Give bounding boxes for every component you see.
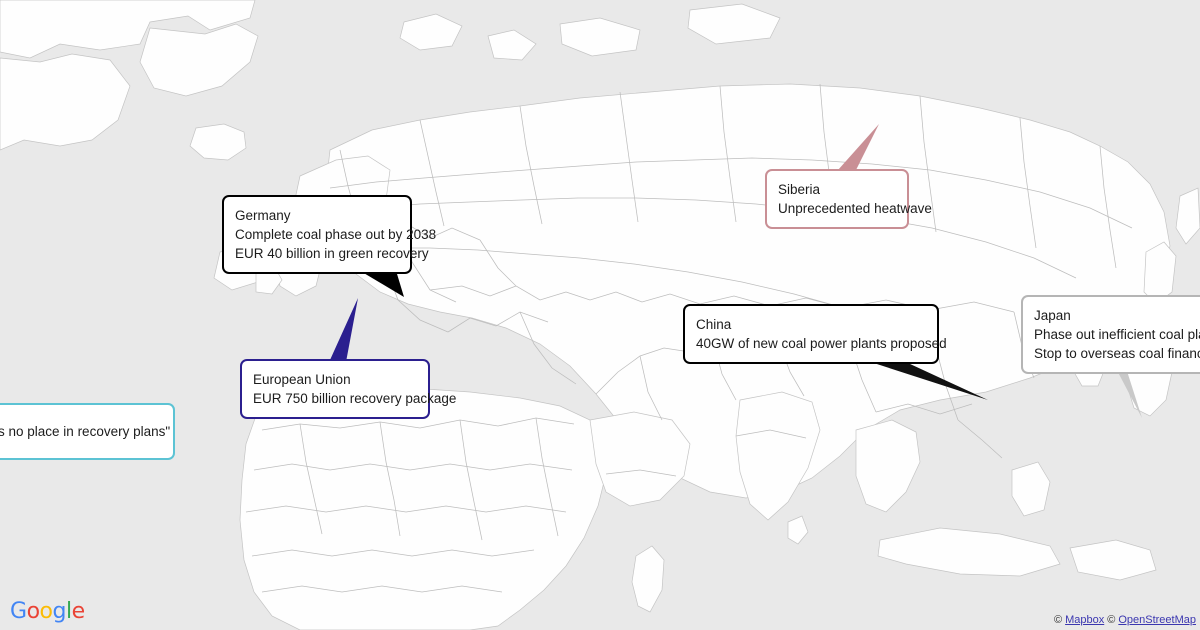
- callout-european-union[interactable]: European Union EUR 750 billion recovery …: [240, 359, 430, 419]
- google-logo-letter-o1: o: [27, 599, 40, 624]
- callout-quote-clipped-left[interactable]: has no place in recovery plans": [0, 403, 175, 460]
- attribution-link-mapbox[interactable]: Mapbox: [1065, 614, 1104, 626]
- callout-european-union-line-1: EUR 750 billion recovery package: [253, 389, 417, 408]
- callout-china[interactable]: China 40GW of new coal power plants prop…: [683, 304, 939, 364]
- callout-european-union-title: European Union: [253, 370, 417, 389]
- callout-siberia[interactable]: Siberia Unprecedented heatwave: [765, 169, 909, 229]
- callout-germany-title: Germany: [235, 206, 399, 225]
- callout-germany-line-2: EUR 40 billion in green recovery: [235, 244, 399, 263]
- copyright-icon: ©: [1054, 614, 1062, 626]
- map-screenshot: Germany Complete coal phase out by 2038 …: [0, 0, 1200, 630]
- attribution-link-openstreetmap[interactable]: OpenStreetMap: [1118, 614, 1196, 626]
- callout-germany-line-1: Complete coal phase out by 2038: [235, 225, 399, 244]
- google-logo-letter-o2: o: [40, 599, 53, 624]
- google-logo[interactable]: Google: [10, 600, 85, 624]
- callout-japan-line-2: Stop to overseas coal finance: [1034, 344, 1195, 363]
- copyright-icon-2: ©: [1107, 614, 1115, 626]
- callout-china-title: China: [696, 315, 926, 334]
- callout-japan-title: Japan: [1034, 306, 1195, 325]
- callout-china-line-1: 40GW of new coal power plants proposed: [696, 334, 926, 353]
- google-logo-letter-g1: G: [10, 599, 27, 624]
- callout-siberia-line-1: Unprecedented heatwave: [778, 199, 896, 218]
- callout-japan-line-1: Phase out inefficient coal plants: [1034, 325, 1195, 344]
- map-canvas[interactable]: [0, 0, 1200, 630]
- callout-japan[interactable]: Japan Phase out inefficient coal plants …: [1021, 295, 1200, 374]
- google-logo-letter-e: e: [72, 599, 85, 624]
- callout-quote-line-1: has no place in recovery plans": [0, 422, 162, 441]
- google-logo-letter-g2: g: [53, 599, 66, 624]
- map-attribution: ©Mapbox©OpenStreetMap: [1054, 613, 1196, 627]
- callout-siberia-title: Siberia: [778, 180, 896, 199]
- callout-germany[interactable]: Germany Complete coal phase out by 2038 …: [222, 195, 412, 274]
